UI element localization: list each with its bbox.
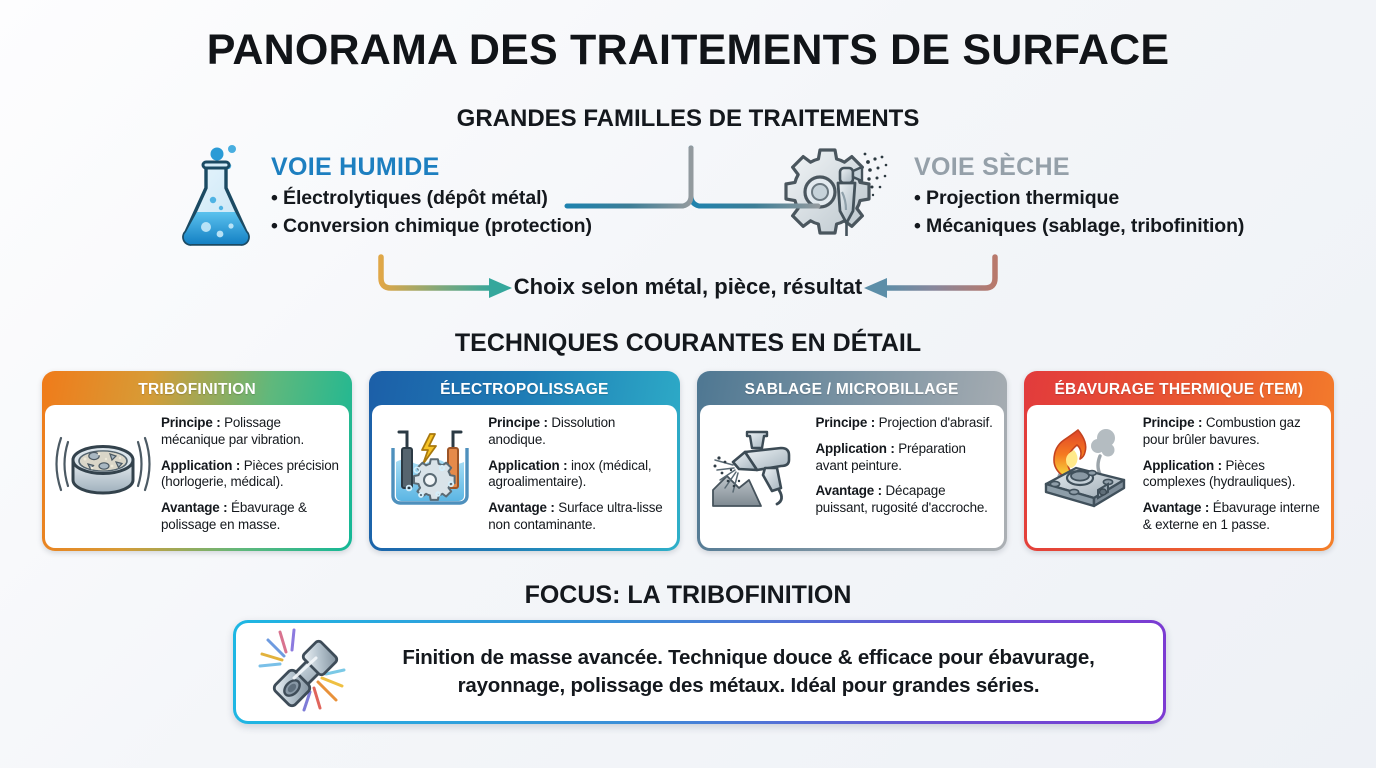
card-sablage[interactable]: SABLAGE / MICROBILLAGE <box>697 371 1007 551</box>
card-lines-electropolissage: Principe : Dissolution anodique. Applica… <box>488 414 667 534</box>
card-line-principe: Principe : Projection d'abrasif. <box>816 415 995 432</box>
family-wet-item-0: • Électrolytiques (dépôt métal) <box>271 185 592 213</box>
family-dry-text: VOIE SÈCHE • Projection thermique • Méca… <box>914 153 1244 240</box>
section-title-focus: FOCUS: LA TRIBOFINITION <box>0 581 1376 610</box>
card-body-sablage: Principe : Projection d'abrasif. Applica… <box>700 405 1004 548</box>
family-dry-item-1: • Mécaniques (sablage, tribofinition) <box>914 213 1244 241</box>
card-ebavurage-thermique[interactable]: ÉBAVURAGE THERMIQUE (TEM) <box>1024 371 1334 551</box>
card-header-tribofinition: TRIBOFINITION <box>45 374 349 405</box>
family-wet: VOIE HUMIDE • Électrolytiques (dépôt mét… <box>175 142 592 251</box>
family-dry-item-0: • Projection thermique <box>914 185 1244 213</box>
family-wet-item-1: • Conversion chimique (protection) <box>271 213 592 241</box>
card-line-application: Application : Pièces préci­sion (horloge… <box>161 458 340 492</box>
card-header-ebavurage-thermique: ÉBAVURAGE THERMIQUE (TEM) <box>1027 374 1331 405</box>
card-body-electropolissage: Principe : Dissolution anodique. Applica… <box>372 405 676 548</box>
family-dry: VOIE SÈCHE • Projection thermique • Méca… <box>780 142 1244 251</box>
section-title-techniques: TECHNIQUES COURANTES EN DÉTAIL <box>0 329 1376 358</box>
card-lines-ebavurage-thermique: Principe : Combustion gaz pour brûler ba… <box>1143 414 1322 534</box>
technique-cards: TRIBOFINITION <box>42 371 1334 551</box>
card-body-ebavurage-thermique: Principe : Combustion gaz pour brûler ba… <box>1027 405 1331 548</box>
card-header-sablage: SABLAGE / MICROBILLAGE <box>700 374 1004 405</box>
card-line-avantage: Avantage : Décapage puissant, rugosité d… <box>816 483 995 517</box>
gear-spraygun-icon <box>780 142 900 251</box>
card-line-principe: Principe : Dissolution anodique. <box>488 415 667 449</box>
sandblast-gun-icon <box>706 414 810 510</box>
card-tribofinition[interactable]: TRIBOFINITION <box>42 371 352 551</box>
polished-bolt-sparkle-icon <box>254 626 350 719</box>
card-line-avantage: Avantage : Ébavurage & polissage en mass… <box>161 500 340 534</box>
card-line-avantage: Avantage : Ébavurage interne & externe e… <box>1143 500 1322 534</box>
focus-text: Finition de masse avancée. Technique dou… <box>360 644 1137 700</box>
family-wet-name: VOIE HUMIDE <box>271 153 592 181</box>
card-line-application: Application : Pièces complexes (hydrauli… <box>1143 458 1322 492</box>
flask-icon <box>175 142 257 251</box>
focus-box[interactable]: Finition de masse avancée. Technique dou… <box>233 620 1166 724</box>
card-line-application: Application : Préparation avant peinture… <box>816 441 995 475</box>
page-title: PANORAMA DES TRAITEMENTS DE SURFACE <box>0 26 1376 75</box>
flame-part-icon <box>1033 414 1137 510</box>
choice-label: Choix selon métal, pièce, résultat <box>0 274 1376 300</box>
card-line-principe: Principe : Polissage mécanique par vibra… <box>161 415 340 449</box>
card-line-avantage: Avantage : Surface ultra-lisse non conta… <box>488 500 667 534</box>
card-line-principe: Principe : Combustion gaz pour brûler ba… <box>1143 415 1322 449</box>
card-body-tribofinition: Principe : Polissage mécanique par vibra… <box>45 405 349 548</box>
infographic-canvas: PANORAMA DES TRAITEMENTS DE SURFACE GRAN… <box>0 0 1376 768</box>
family-wet-text: VOIE HUMIDE • Électrolytiques (dépôt mét… <box>271 153 592 240</box>
card-header-electropolissage: ÉLECTROPOLISSAGE <box>372 374 676 405</box>
card-lines-tribofinition: Principe : Polissage mécanique par vibra… <box>161 414 340 534</box>
focus-inner: Finition de masse avancée. Technique dou… <box>236 623 1163 721</box>
card-electropolissage[interactable]: ÉLECTROPOLISSAGE <box>369 371 679 551</box>
families-row: VOIE HUMIDE • Électrolytiques (dépôt mét… <box>0 140 1376 260</box>
family-dry-name: VOIE SÈCHE <box>914 153 1244 181</box>
vibrating-bowl-icon <box>51 414 155 510</box>
card-lines-sablage: Principe : Projection d'abrasif. Applica… <box>816 414 995 517</box>
section-title-families: GRANDES FAMILLES DE TRAITEMENTS <box>0 105 1376 133</box>
electrolysis-tank-icon <box>378 414 482 510</box>
card-line-application: Application : inox (médical, agroaliment… <box>488 458 667 492</box>
